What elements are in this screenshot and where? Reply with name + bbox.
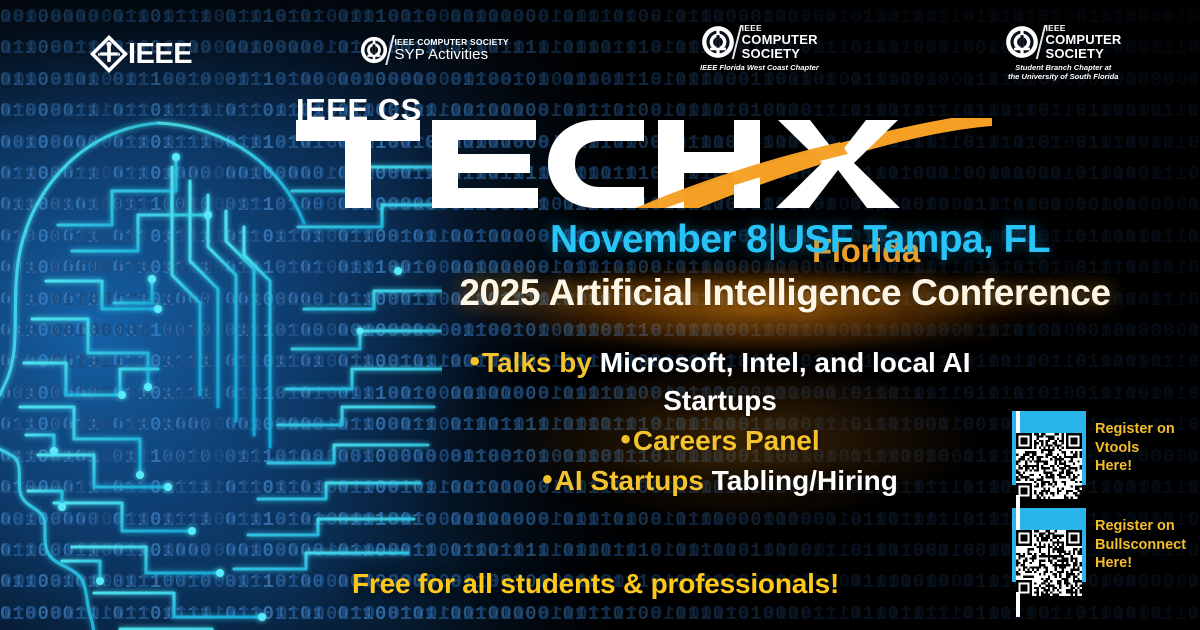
list-item: •AI Startups Tabling/Hiring	[440, 460, 1000, 500]
ieee-wordmark: IEEE	[128, 38, 192, 71]
poster-canvas: 00100000 01101111 01110101 01110010 0010…	[0, 0, 1200, 630]
cs-line-2: SYP Activities	[395, 47, 509, 63]
ieee-computer-society-mark-icon	[701, 25, 735, 59]
qr-caption-line-2: Bullsconnect	[1095, 537, 1186, 553]
techx-lettering	[292, 118, 992, 208]
qr-caption-line-3: Here!	[1095, 458, 1132, 474]
logo-text-block: IEEE COMPUTER SOCIETY	[742, 24, 818, 60]
logo-ieee-cs-usf-student-branch: IEEE COMPUTER SOCIETY Student Branch Cha…	[1005, 24, 1122, 82]
event-highlights-list: •Talks by Microsoft, Intel, and local AI…	[440, 342, 1000, 500]
bullet-emphasis: AI Startups	[555, 465, 704, 496]
cs-line-3: SOCIETY	[742, 47, 818, 61]
cs-line-2: COMPUTER	[742, 33, 818, 47]
logo-text-block: IEEE COMPUTER SOCIETY SYP Activities	[395, 38, 509, 63]
qr-code-frame[interactable]	[1012, 508, 1086, 582]
bullet-text: Tabling/Hiring	[704, 465, 898, 496]
qr-registration-bullsconnect[interactable]: Register on Bullsconnect Here!	[1012, 508, 1186, 582]
qr-caption: Register on Bullsconnect Here!	[1095, 517, 1186, 573]
qr-caption-line-1: Register on	[1095, 421, 1175, 437]
logo-caption: IEEE Florida West Coast Chapter	[700, 63, 819, 72]
logo-ieee-master-brand: IEEE	[88, 33, 192, 75]
bullet-dot-icon: •	[542, 463, 553, 496]
cs-line-2: COMPUTER	[1046, 33, 1122, 47]
logo-caption: Student Branch Chapter at the University…	[1008, 63, 1119, 82]
logo-caption-line-2: the University of South Florida	[1008, 72, 1119, 81]
sponsor-logo-bar: IEEE IEEE COMPUTER SOCIETY SYP Activitie…	[0, 0, 1200, 92]
qr-caption-line-3: Here!	[1095, 555, 1132, 571]
bullet-dot-icon: •	[469, 345, 480, 378]
ieee-computer-society-mark-icon	[360, 36, 388, 64]
event-date-location: November 8|USF Tampa, FL	[440, 218, 1160, 262]
bullet-text: Microsoft, Intel, and local AI Startups	[592, 347, 971, 416]
ieee-computer-society-mark-icon	[1005, 25, 1039, 59]
logo-text-block: IEEE COMPUTER SOCIETY	[1046, 24, 1122, 60]
list-item: •Careers Panel	[440, 420, 1000, 460]
event-location: USF Tampa, FL	[777, 218, 1050, 261]
techx-wordmark: IEEE CS Florida	[292, 92, 992, 207]
qr-caption: Register on Vtools Here!	[1095, 420, 1175, 476]
date-separator: |	[767, 218, 777, 261]
qr-caption-line-2: Vtools	[1095, 440, 1139, 456]
qr-caption-line-1: Register on	[1095, 518, 1175, 534]
logo-caption-line-1: Student Branch Chapter at	[1015, 63, 1111, 72]
bullet-dot-icon: •	[620, 423, 631, 456]
logo-ieee-cs-syp-activities: IEEE COMPUTER SOCIETY SYP Activities	[360, 35, 509, 65]
list-item: •Talks by Microsoft, Intel, and local AI…	[440, 342, 1000, 420]
event-date: November 8	[550, 218, 767, 261]
cs-line-3: SOCIETY	[1046, 47, 1122, 61]
bullet-emphasis: Talks by	[482, 347, 592, 378]
bullet-emphasis: Careers Panel	[633, 425, 820, 456]
event-headline: 2025 Artificial Intelligence Conference	[405, 272, 1165, 314]
qr-code-frame[interactable]	[1012, 411, 1086, 485]
logo-ieee-cs-florida-west-coast-chapter: IEEE COMPUTER SOCIETY IEEE Florida West …	[700, 24, 819, 72]
ieee-diamond-icon	[88, 33, 130, 75]
free-admission-note: Free for all students & professionals!	[352, 568, 839, 600]
qr-registration-vtools[interactable]: Register on Vtools Here!	[1012, 411, 1175, 485]
